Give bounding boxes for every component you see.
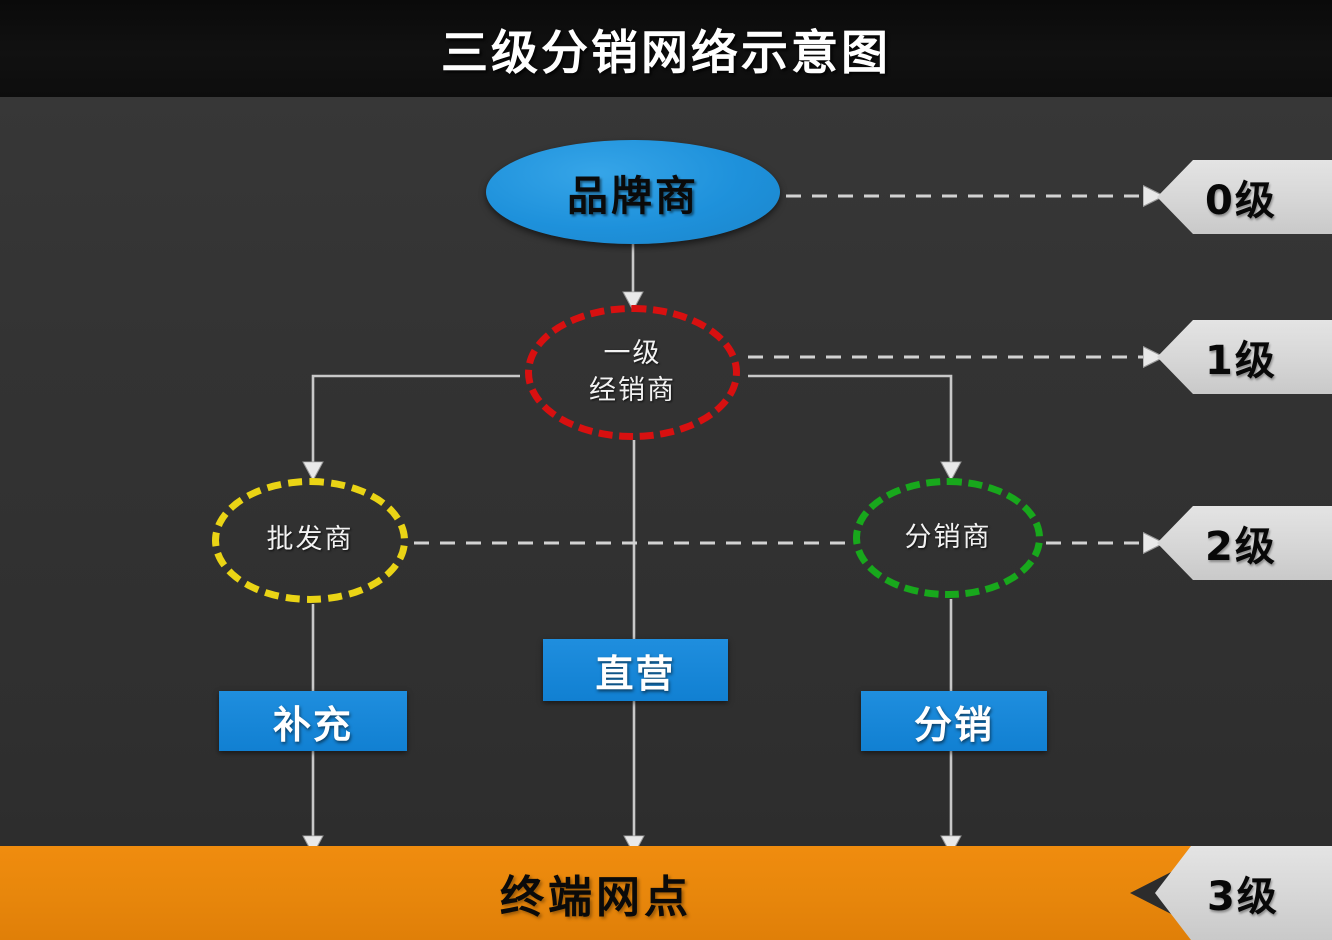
page-title: 三级分销网络示意图 xyxy=(0,0,1332,97)
level-marker-3[interactable]: 3级 xyxy=(1155,846,1332,940)
node-brand-label: 品牌商 xyxy=(567,162,699,222)
level-marker-0[interactable]: 0级 xyxy=(1157,160,1332,234)
node-tier1-dealer[interactable]: 一级 经销商 xyxy=(525,305,740,440)
level-marker-2-label: 2级 xyxy=(1205,514,1277,572)
node-distribution-channel[interactable]: 分销 xyxy=(861,691,1047,751)
level-marker-3-label: 3级 xyxy=(1207,864,1279,922)
node-supplement-channel-label: 补充 xyxy=(273,694,353,749)
node-tier1-dealer-label: 一级 经销商 xyxy=(589,336,676,409)
node-wholesaler-label: 批发商 xyxy=(267,522,354,558)
node-direct-sales-label: 直营 xyxy=(595,643,675,698)
node-supplement-channel[interactable]: 补充 xyxy=(219,691,407,751)
node-terminal-outlets-label: 终端网点 xyxy=(500,861,692,925)
node-distributor[interactable]: 分销商 xyxy=(853,478,1043,598)
level-marker-0-label: 0级 xyxy=(1205,168,1277,226)
level-marker-1[interactable]: 1级 xyxy=(1157,320,1332,394)
node-terminal-outlets[interactable]: 终端网点 xyxy=(0,846,1222,940)
node-distribution-channel-label: 分销 xyxy=(914,694,994,749)
level-marker-1-label: 1级 xyxy=(1205,328,1277,386)
node-direct-sales[interactable]: 直营 xyxy=(543,639,728,701)
node-distributor-label: 分销商 xyxy=(905,520,992,556)
node-brand[interactable]: 品牌商 xyxy=(486,140,780,244)
diagram-canvas: 三级分销网络示意图 xyxy=(0,0,1332,940)
level-marker-2[interactable]: 2级 xyxy=(1157,506,1332,580)
node-wholesaler[interactable]: 批发商 xyxy=(212,478,408,603)
